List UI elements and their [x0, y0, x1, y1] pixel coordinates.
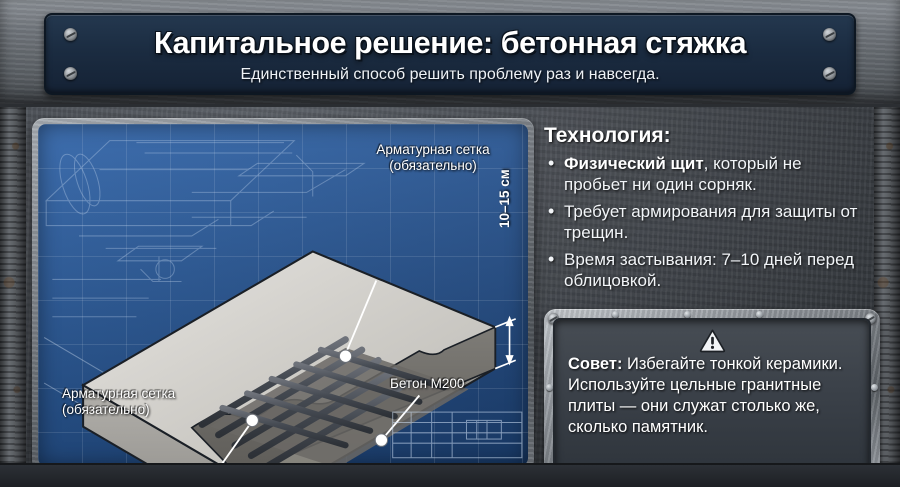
label-concrete-grade: Бетон М200: [390, 376, 464, 391]
rivet-icon: [546, 384, 553, 391]
screw-icon: [64, 67, 77, 80]
screw-icon: [823, 67, 836, 80]
bottom-strip: [0, 463, 900, 487]
label-mesh-top: Арматурная сетка (обязательно): [353, 142, 513, 175]
blueprint-panel: Арматурная сетка (обязательно) Арматурна…: [32, 118, 534, 472]
rivet-icon: [612, 311, 619, 318]
rivet-icon: [684, 311, 691, 318]
rivet-icon: [756, 311, 763, 318]
tip-text: Совет: Избегайте тонкой керамики. Исполь…: [568, 354, 856, 438]
tip-lead: Совет:: [568, 355, 622, 373]
item-text: Требует армирования для защиты от трещин…: [564, 202, 857, 242]
infographic-root: Капитальное решение: бетонная стяжка Еди…: [0, 0, 900, 487]
warning-triangle-icon: [699, 328, 726, 353]
blueprint-canvas: Арматурная сетка (обязательно) Арматурна…: [38, 124, 528, 466]
screw-icon: [823, 28, 836, 41]
item-text: Время застывания: 7–10 дней перед облицо…: [564, 250, 854, 290]
tip-box: Совет: Избегайте тонкой керамики. Исполь…: [544, 309, 880, 487]
list-item: Физический щит, который не пробьет ни од…: [548, 154, 866, 195]
tech-heading: Технология:: [544, 124, 868, 148]
label-mesh-bottom: Арматурная сетка (обязательно): [62, 386, 232, 419]
tech-list: Физический щит, который не пробьет ни од…: [538, 154, 868, 291]
title-plaque: Капитальное решение: бетонная стяжка Еди…: [44, 13, 856, 95]
page-subtitle: Единственный способ решить проблему раз …: [240, 66, 659, 84]
header-band: Капитальное решение: бетонная стяжка Еди…: [0, 0, 900, 107]
item-bold: Физический щит: [564, 154, 704, 173]
page-title: Капитальное решение: бетонная стяжка: [154, 25, 746, 61]
list-item: Требует армирования для защиты от трещин…: [548, 202, 866, 243]
screw-icon: [64, 28, 77, 41]
label-thickness: 10–15 см: [497, 169, 512, 228]
list-item: Время застывания: 7–10 дней перед облицо…: [548, 250, 866, 291]
rivet-icon: [871, 384, 878, 391]
tip-inner: Совет: Избегайте тонкой керамики. Исполь…: [553, 318, 871, 478]
